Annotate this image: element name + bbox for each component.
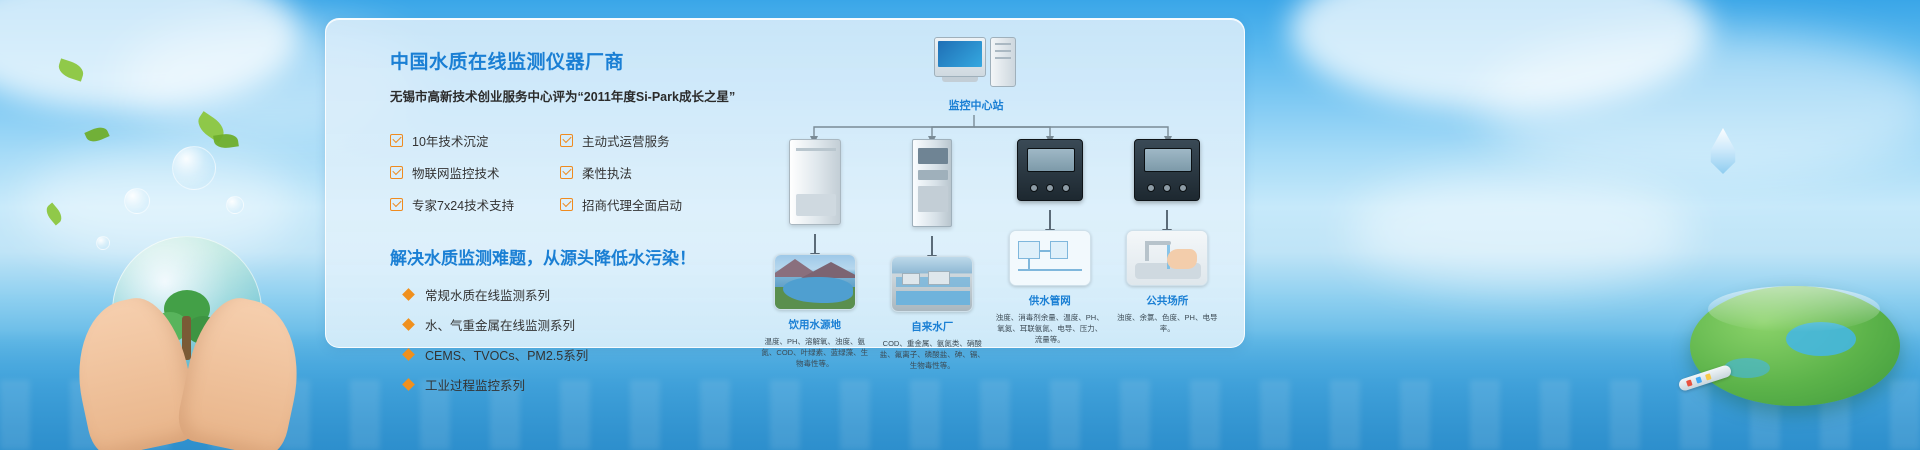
list-item[interactable]: CEMS、TVOCs、PM2.5系列 [390, 345, 730, 364]
bubble-decoration [172, 146, 216, 190]
hands-holding-tree-illustration [78, 250, 298, 450]
bubble-decoration [124, 188, 150, 214]
diamond-bullet-icon [402, 348, 415, 361]
diamond-bullet-icon [402, 288, 415, 301]
bubble-decoration [226, 196, 244, 214]
pipe-network-art [1010, 231, 1090, 285]
checkbox-checked-icon [560, 198, 573, 211]
checkbox-checked-icon [390, 134, 403, 147]
bubble-decoration [96, 236, 110, 250]
scenario-title: 饮用水源地 [789, 317, 842, 332]
diamond-bullet-icon [402, 378, 415, 391]
water-droplet-icon [1706, 128, 1740, 174]
feature-label: 物联网监控技术 [412, 163, 500, 182]
banner-text-column: 中国水质在线监测仪器厂商 无锡市高新技术创业服务中心评为“2011年度Si-Pa… [390, 47, 730, 394]
tap-photo-art [1127, 231, 1207, 285]
feature-item[interactable]: 柔性执法 [560, 163, 730, 182]
list-item-label: CEMS、TVOCs、PM2.5系列 [425, 345, 588, 364]
feature-item[interactable]: 物联网监控技术 [390, 163, 560, 182]
scenario-column: 自来水厂 COD、重金属、氨氮类、硝酸盐、氟离子、磷酸盐、砷、镉、生物毒性等。 [874, 139, 992, 372]
page-subtitle: 无锡市高新技术创业服务中心评为“2011年度Si-Park成长之星” [390, 86, 730, 105]
cloud-decoration [1480, 30, 1920, 180]
feature-label: 柔性执法 [582, 163, 632, 182]
feature-checklist: 10年技术沉淀 主动式运营服务 物联网监控技术 柔性执法 专家7x24技术支持 … [390, 131, 730, 214]
scenario-title: 自来水厂 [911, 319, 953, 334]
scenario-title: 供水管网 [1029, 293, 1071, 308]
eco-globe-illustration [1690, 276, 1900, 406]
pc-tower-icon [990, 37, 1016, 87]
cloud-decoration [1290, 0, 1710, 110]
scenario-description: 浊度、消毒剂余量、温度、PH、氧氮、耳联氨氮、电导、压力、流量等。 [996, 313, 1104, 346]
controller-panel-icon [1017, 139, 1083, 201]
globe-lake [1724, 358, 1770, 378]
checkbox-checked-icon [560, 166, 573, 179]
analyzer-cabinet-icon [789, 139, 841, 225]
scenario-column: 供水管网 浊度、消毒剂余量、温度、PH、氧氮、耳联氨氮、电导、压力、流量等。 [991, 139, 1109, 372]
feature-label: 10年技术沉淀 [412, 131, 488, 150]
tap-photo [1126, 230, 1208, 286]
feature-item[interactable]: 专家7x24技术支持 [390, 195, 560, 214]
monitor-screen [938, 41, 982, 67]
down-arrow-icon [1166, 210, 1168, 230]
list-item-label: 水、气重金属在线监测系列 [425, 315, 575, 334]
desktop-computer-icon [934, 37, 1018, 91]
leaf-decoration [84, 124, 109, 145]
checkbox-checked-icon [390, 198, 403, 211]
feature-item[interactable]: 主动式运营服务 [560, 131, 730, 150]
list-item-label: 工业过程监控系列 [425, 375, 525, 394]
monitor-icon [934, 37, 986, 77]
feature-item[interactable]: 招商代理全面启动 [560, 195, 730, 214]
controller-lcd-screen [1027, 148, 1075, 172]
feature-label: 专家7x24技术支持 [412, 195, 514, 214]
list-item[interactable]: 水、气重金属在线监测系列 [390, 315, 730, 334]
monitoring-topology-diagram: 监控中心站 [756, 31, 1226, 349]
scenario-column: 饮用水源地 温度、PH、溶解氧、浊度、氨氮、COD、叶绿素、蓝绿藻、生物毒性等。 [756, 139, 874, 372]
pipe-network-diagram [1009, 230, 1091, 286]
feature-item[interactable]: 10年技术沉淀 [390, 131, 560, 150]
checkbox-checked-icon [560, 134, 573, 147]
waterworks-photo [891, 256, 973, 312]
scenario-title: 公共场所 [1146, 293, 1188, 308]
down-arrow-icon [931, 236, 933, 256]
feature-label: 主动式运营服务 [582, 131, 670, 150]
scenario-description: 浊度、余氯、色度、PH、电导率。 [1113, 313, 1221, 335]
list-item[interactable]: 常规水质在线监测系列 [390, 285, 730, 304]
diamond-bullet-icon [402, 318, 415, 331]
waterworks-photo-art [892, 257, 972, 311]
monitor-base [942, 77, 978, 82]
controller-panel-icon [1134, 139, 1200, 201]
analyzer-rack-icon [912, 139, 952, 227]
product-line-list: 常规水质在线监测系列 水、气重金属在线监测系列 CEMS、TVOCs、PM2.5… [390, 285, 730, 394]
cloud-decoration [1350, 170, 1690, 290]
down-arrow-icon [814, 234, 816, 254]
scenario-description: COD、重金属、氨氮类、硝酸盐、氟离子、磷酸盐、砷、镉、生物毒性等。 [878, 339, 986, 372]
river-photo [774, 254, 856, 310]
list-item[interactable]: 工业过程监控系列 [390, 375, 730, 394]
leaf-decoration [43, 202, 65, 225]
leaf-decoration [213, 132, 239, 149]
center-station-label: 监控中心站 [906, 97, 1046, 113]
globe-highlight [1708, 286, 1880, 332]
controller-lcd-screen [1144, 148, 1192, 172]
scenario-columns: 饮用水源地 温度、PH、溶解氧、浊度、氨氮、COD、叶绿素、蓝绿藻、生物毒性等。 [756, 139, 1226, 372]
banner-card: 中国水质在线监测仪器厂商 无锡市高新技术创业服务中心评为“2011年度Si-Pa… [325, 18, 1245, 348]
feature-label: 招商代理全面启动 [582, 195, 682, 214]
leaf-decoration [56, 58, 86, 81]
river-photo-art [775, 255, 855, 309]
list-item-label: 常规水质在线监测系列 [425, 285, 550, 304]
down-arrow-icon [1049, 210, 1051, 230]
scenario-column: 公共场所 浊度、余氯、色度、PH、电导率。 [1109, 139, 1227, 372]
section-title: 解决水质监测难题，从源头降低水污染！ [390, 244, 730, 269]
page-title: 中国水质在线监测仪器厂商 [390, 47, 730, 74]
scenario-description: 温度、PH、溶解氧、浊度、氨氮、COD、叶绿素、蓝绿藻、生物毒性等。 [761, 337, 869, 370]
checkbox-checked-icon [390, 166, 403, 179]
cloud-decoration [0, 0, 300, 110]
